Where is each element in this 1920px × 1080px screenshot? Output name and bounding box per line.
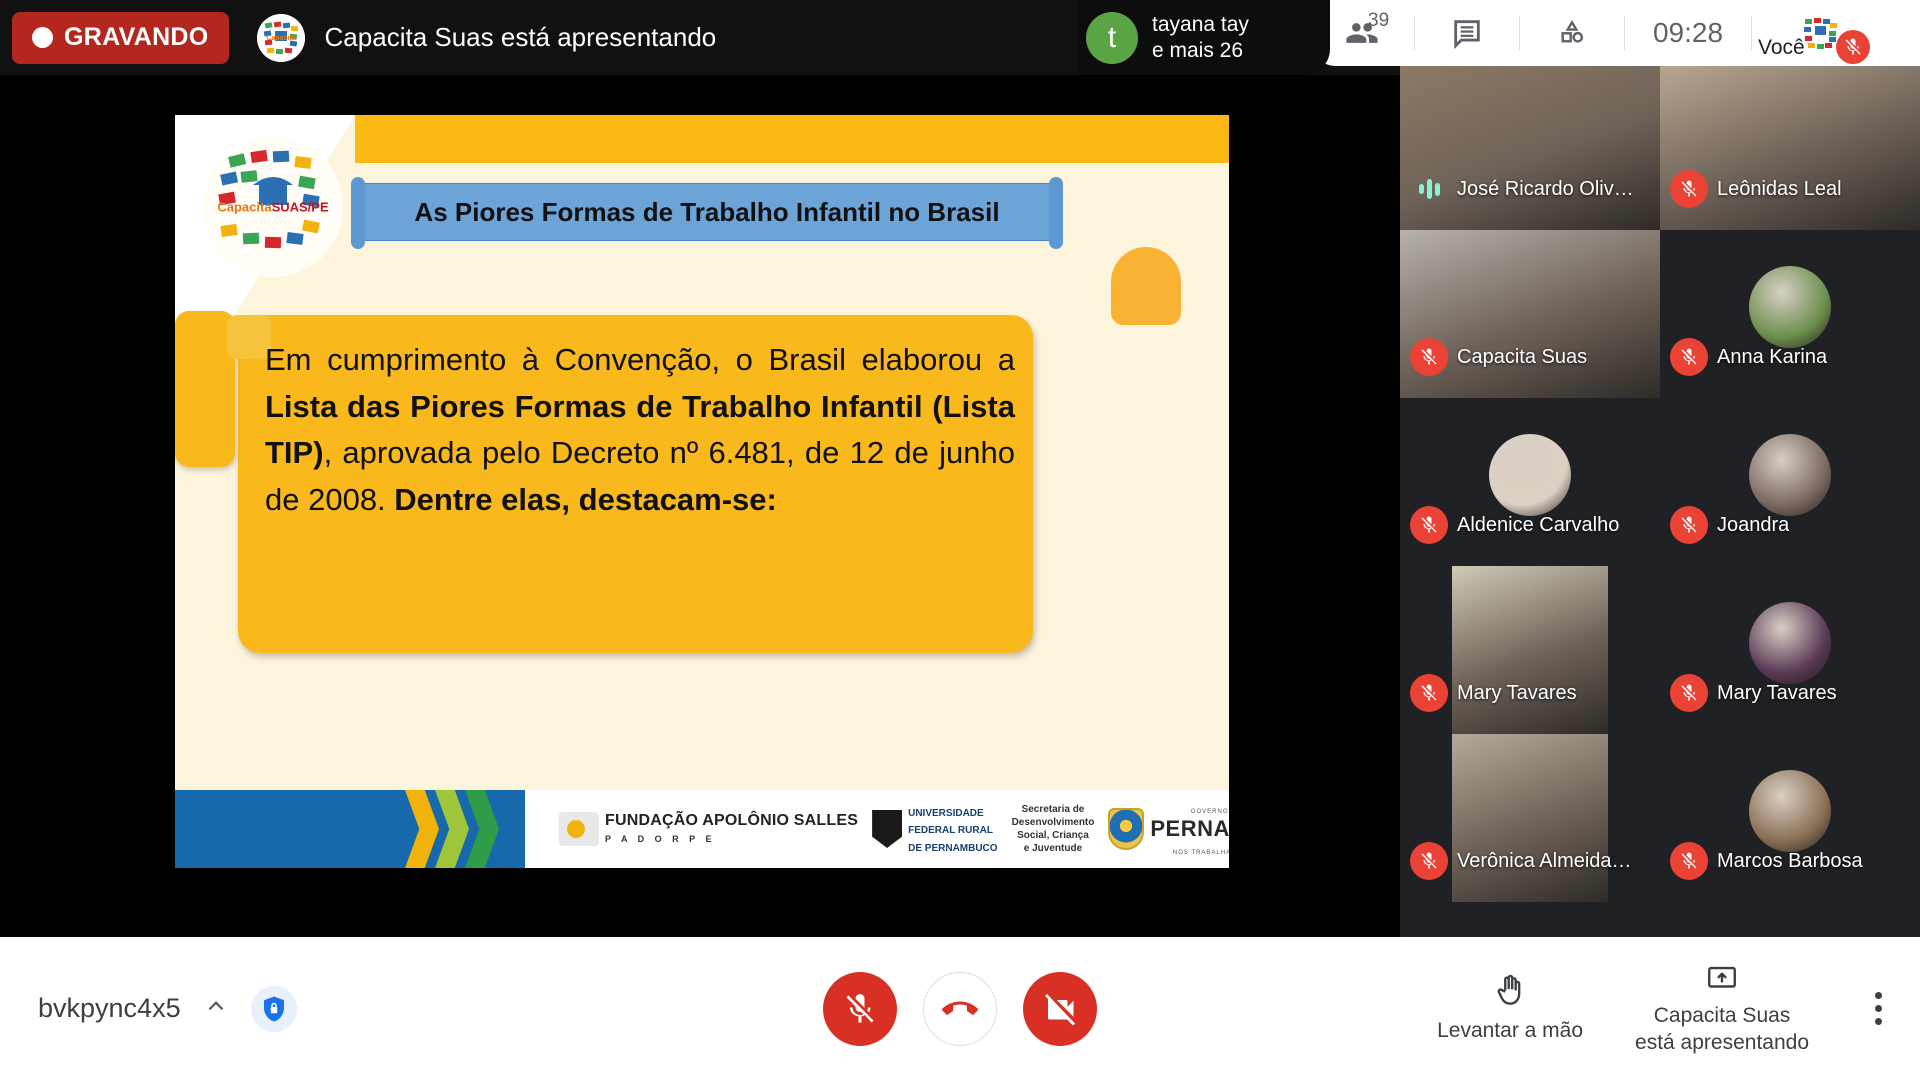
participant-mic-off-icon xyxy=(1670,674,1708,712)
toggle-microphone-button[interactable] xyxy=(823,972,897,1046)
participant-mic-off-icon xyxy=(1670,506,1708,544)
participant-mic-off-icon xyxy=(1670,842,1708,880)
logo-ufrpe: UNIVERSIDADE FEDERAL RURAL DE PERNAMBUCO xyxy=(872,803,997,855)
present-status-label: Capacita Suas está apresentando xyxy=(1635,1003,1809,1056)
logo-secretaria-desenvolvimento-social: Secretaria de Desenvolvimento Social, Cr… xyxy=(1012,803,1095,855)
logo-pe-line1: GOVERNO DO ESTADO xyxy=(1191,809,1229,815)
active-speaker-names: tayana tay e mais 26 xyxy=(1152,12,1249,63)
bottom-bar-right-actions: Levantar a mão Capacita Suas está aprese… xyxy=(1437,961,1896,1056)
chevron-up-icon[interactable] xyxy=(203,993,229,1024)
participant-tile[interactable]: Mary Tavares xyxy=(1660,566,1920,734)
slide-logo-word-1: Capacita xyxy=(217,200,271,215)
recording-indicator[interactable]: GRAVANDO xyxy=(12,12,229,64)
raise-hand-icon xyxy=(1491,972,1529,1010)
participant-tile[interactable]: Aldenice Carvalho xyxy=(1400,398,1660,566)
slide-footer: FUNDAÇÃO APOLÔNIO SALLES P A D O R P E U… xyxy=(175,790,1229,868)
call-end-icon xyxy=(942,991,978,1027)
participant-tile[interactable]: Verônica Almeida… xyxy=(1400,734,1660,902)
kebab-dot-2 xyxy=(1875,1005,1882,1012)
logo-fas-line2: P A D O R P E xyxy=(605,834,716,844)
chat-icon xyxy=(1449,16,1485,50)
participant-name: Aldenice Carvalho xyxy=(1457,514,1619,537)
slide-logo-word-2: SUAS/PE xyxy=(272,200,329,215)
slide-top-band xyxy=(355,115,1229,163)
logo-ufrpe-line3: DE PERNAMBUCO xyxy=(908,843,997,854)
participant-mic-off-icon xyxy=(1410,674,1448,712)
call-controls xyxy=(823,972,1097,1046)
bottom-bar: bvkpync4x5 xyxy=(0,937,1920,1080)
ufrpe-crest-icon xyxy=(872,810,902,848)
logo-ufrpe-line1: UNIVERSIDADE xyxy=(908,808,984,819)
self-mic-off-icon xyxy=(1836,30,1870,64)
active-speaker-chip: t tayana tay e mais 26 xyxy=(1078,0,1330,75)
activities-shapes-icon xyxy=(1555,17,1589,49)
top-bar-controls-panel: 39 09:28 xyxy=(1310,0,1920,66)
participant-tile[interactable]: Marcos Barbosa xyxy=(1660,734,1920,902)
slide-footer-blue-block xyxy=(175,790,375,868)
logo-governo-pernambuco: GOVERNO DO ESTADO PERNAMBUCO NOS TRABALH… xyxy=(1108,800,1229,858)
top-bar: GRAVANDO Capaci xyxy=(0,0,1920,75)
self-view-tile[interactable]: Você xyxy=(1752,0,1872,66)
participant-name: José Ricardo Oliv… xyxy=(1457,178,1634,201)
participant-mic-off-icon xyxy=(1670,338,1708,376)
slide-body-run-3: Dentre elas, destacam-se: xyxy=(394,482,777,517)
present-screen-icon xyxy=(1705,961,1739,995)
chat-button[interactable] xyxy=(1415,0,1519,66)
active-speaker-name: tayana tay xyxy=(1152,12,1249,38)
mic-off-icon xyxy=(842,991,878,1027)
recording-label: GRAVANDO xyxy=(64,23,209,52)
slide-body-text: Em cumprimento à Convenção, o Brasil ela… xyxy=(265,337,1015,637)
participant-name: Joandra xyxy=(1717,514,1789,537)
capacitasuas-pe-logo-icon: CapacitaSUAS/PE xyxy=(203,137,343,277)
present-label-line1: Capacita Suas xyxy=(1654,1004,1791,1027)
participant-avatar xyxy=(1749,602,1831,684)
self-label: Você xyxy=(1758,36,1805,60)
more-options-button[interactable] xyxy=(1861,982,1896,1035)
participant-tile[interactable]: Leônidas Leal xyxy=(1660,62,1920,230)
raise-hand-button[interactable]: Levantar a mão xyxy=(1437,972,1583,1044)
participant-name: Verônica Almeida… xyxy=(1457,850,1632,873)
present-now-button[interactable]: Capacita Suas está apresentando xyxy=(1635,961,1809,1056)
recording-dot-icon xyxy=(32,27,53,48)
participant-mic-off-icon xyxy=(1410,842,1448,880)
participant-name: Leônidas Leal xyxy=(1717,178,1842,201)
logo-fas-line1: FUNDAÇÃO APOLÔNIO SALLES xyxy=(605,812,858,829)
participant-speaking-icon xyxy=(1410,170,1448,208)
pernambuco-shield-icon xyxy=(1108,808,1144,850)
participant-tile-footer: Capacita Suas xyxy=(1400,338,1660,376)
satellite-icon xyxy=(559,812,599,846)
slide-blob-decoration xyxy=(1111,247,1181,325)
logo-pe-line2: PERNAMBUCO xyxy=(1150,816,1229,841)
participant-avatar xyxy=(1749,434,1831,516)
logo-sec-line3: Social, Criança xyxy=(1017,830,1089,841)
participant-tile-footer: Mary Tavares xyxy=(1660,674,1920,712)
slide-body-run-0: Em cumprimento à Convenção, o Brasil ela… xyxy=(265,342,1015,377)
participant-name: Capacita Suas xyxy=(1457,346,1587,369)
participant-tile-footer: Aldenice Carvalho xyxy=(1400,506,1660,544)
participant-tile-footer: Joandra xyxy=(1660,506,1920,544)
participants-sidebar[interactable]: José Ricardo Oliv…Leônidas LealCapacita … xyxy=(1400,62,1920,937)
logo-fundacao-apolonio-salles: FUNDAÇÃO APOLÔNIO SALLES P A D O R P E xyxy=(559,812,858,847)
google-meet-window: GRAVANDO Capaci xyxy=(0,0,1920,1080)
participant-mic-off-icon xyxy=(1410,506,1448,544)
presenter-logo-icon: Capacita xyxy=(257,14,305,62)
meeting-clock: 09:28 xyxy=(1625,17,1751,49)
slide-footer-logos: FUNDAÇÃO APOLÔNIO SALLES P A D O R P E U… xyxy=(525,790,1229,868)
toggle-camera-button[interactable] xyxy=(1023,972,1097,1046)
participant-tile-footer: Leônidas Leal xyxy=(1660,170,1920,208)
participant-tile-footer: Marcos Barbosa xyxy=(1660,842,1920,880)
presentation-stage[interactable]: CapacitaSUAS/PE As Piores Formas de Trab… xyxy=(0,75,1400,908)
people-count-badge: 39 xyxy=(1368,10,1389,32)
logo-sec-line4: e Juventude xyxy=(1024,843,1082,854)
present-label-line2: está apresentando xyxy=(1635,1031,1809,1054)
participant-avatar xyxy=(1489,434,1571,516)
camera-off-icon xyxy=(1042,991,1078,1027)
logo-ufrpe-line2: FEDERAL RURAL xyxy=(908,825,993,836)
slide-title: As Piores Formas de Trabalho Infantil no… xyxy=(414,197,999,228)
slide-footer-chevrons xyxy=(375,790,525,868)
presenting-status-text: Capacita Suas está apresentando xyxy=(325,22,717,53)
meeting-code[interactable]: bvkpync4x5 xyxy=(38,993,181,1024)
logo-pe-line3: NOS TRABALHA, NOS E ESTADO xyxy=(1173,850,1229,856)
participant-name: Marcos Barbosa xyxy=(1717,850,1863,873)
logo-sec-line1: Secretaria de xyxy=(1022,804,1085,815)
svg-text:Capacita: Capacita xyxy=(266,35,295,42)
activities-button[interactable] xyxy=(1520,0,1624,66)
shared-slide: CapacitaSUAS/PE As Piores Formas de Trab… xyxy=(175,115,1229,868)
slide-logo-wordmark: CapacitaSUAS/PE xyxy=(217,200,328,215)
slide-title-banner: As Piores Formas de Trabalho Infantil no… xyxy=(357,183,1057,241)
participant-tile[interactable]: Capacita Suas xyxy=(1400,230,1660,398)
participant-mic-off-icon xyxy=(1410,338,1448,376)
participant-tile[interactable]: José Ricardo Oliv… xyxy=(1400,62,1660,230)
raise-hand-label: Levantar a mão xyxy=(1437,1018,1583,1044)
participant-tile-footer: Mary Tavares xyxy=(1400,674,1660,712)
participant-avatar xyxy=(1749,770,1831,852)
meeting-details: bvkpync4x5 xyxy=(0,986,520,1032)
slide-scroll-curl-left xyxy=(175,311,235,467)
participant-name: Mary Tavares xyxy=(1717,682,1837,705)
kebab-dot-1 xyxy=(1875,992,1882,999)
participant-tile[interactable]: Joandra xyxy=(1660,398,1920,566)
participant-tile[interactable]: Mary Tavares xyxy=(1400,566,1660,734)
participant-name: Mary Tavares xyxy=(1457,682,1577,705)
participant-mic-off-icon xyxy=(1670,170,1708,208)
participant-name: Anna Karina xyxy=(1717,346,1827,369)
participant-tile[interactable]: Anna Karina xyxy=(1660,230,1920,398)
participant-avatar xyxy=(1749,266,1831,348)
participant-tile-grid: José Ricardo Oliv…Leônidas LealCapacita … xyxy=(1400,62,1920,902)
active-speaker-others: e mais 26 xyxy=(1152,38,1249,64)
shield-lock-icon[interactable] xyxy=(251,986,297,1032)
end-call-button[interactable] xyxy=(923,972,997,1046)
logo-sec-line2: Desenvolvimento xyxy=(1012,817,1095,828)
participant-tile-footer: Verônica Almeida… xyxy=(1400,842,1660,880)
participant-tile-footer: José Ricardo Oliv… xyxy=(1400,170,1660,208)
active-speaker-avatar: t xyxy=(1086,12,1138,64)
kebab-dot-3 xyxy=(1875,1018,1882,1025)
participant-tile-footer: Anna Karina xyxy=(1660,338,1920,376)
